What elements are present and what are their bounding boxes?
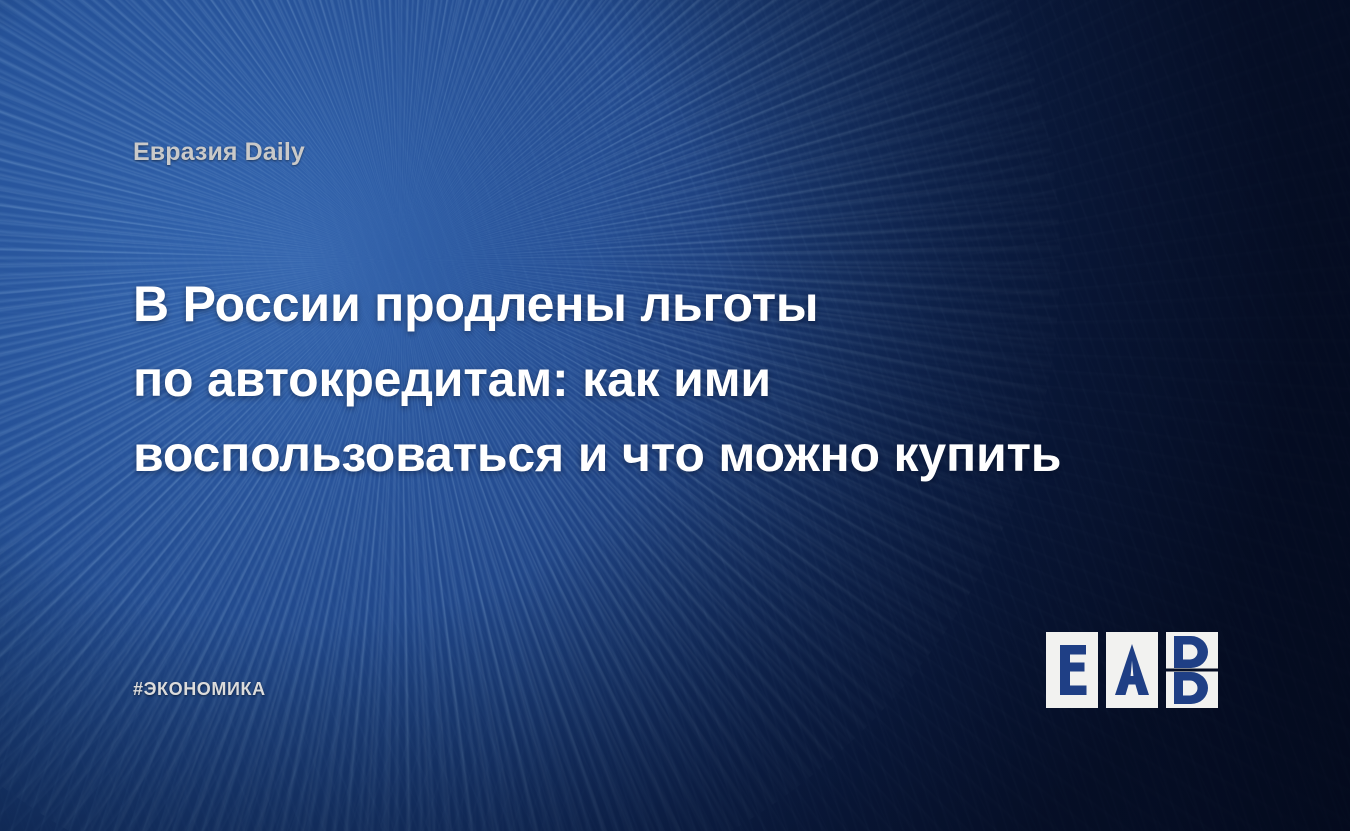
- headline-line-2: по автокредитам: как ими: [133, 342, 1213, 417]
- letter-a-tile: [1106, 632, 1158, 708]
- brand-name: Евразия Daily: [133, 138, 305, 167]
- eadaily-logo-svg: [1046, 632, 1222, 708]
- eadaily-logo[interactable]: [1046, 632, 1222, 708]
- category-tag[interactable]: #ЭКОНОМИКА: [133, 679, 266, 700]
- headline-line-3: воспользоваться и что можно купить: [133, 417, 1213, 492]
- card-content: Евразия Daily В России продлены льготы п…: [0, 0, 1350, 831]
- news-card: Евразия Daily В России продлены льготы п…: [0, 0, 1350, 831]
- page-title: В России продлены льготы по автокредитам…: [133, 267, 1213, 492]
- headline-line-1: В России продлены льготы: [133, 267, 1213, 342]
- letter-e-tile: [1046, 632, 1098, 708]
- letter-d-split-tile: [1166, 632, 1218, 708]
